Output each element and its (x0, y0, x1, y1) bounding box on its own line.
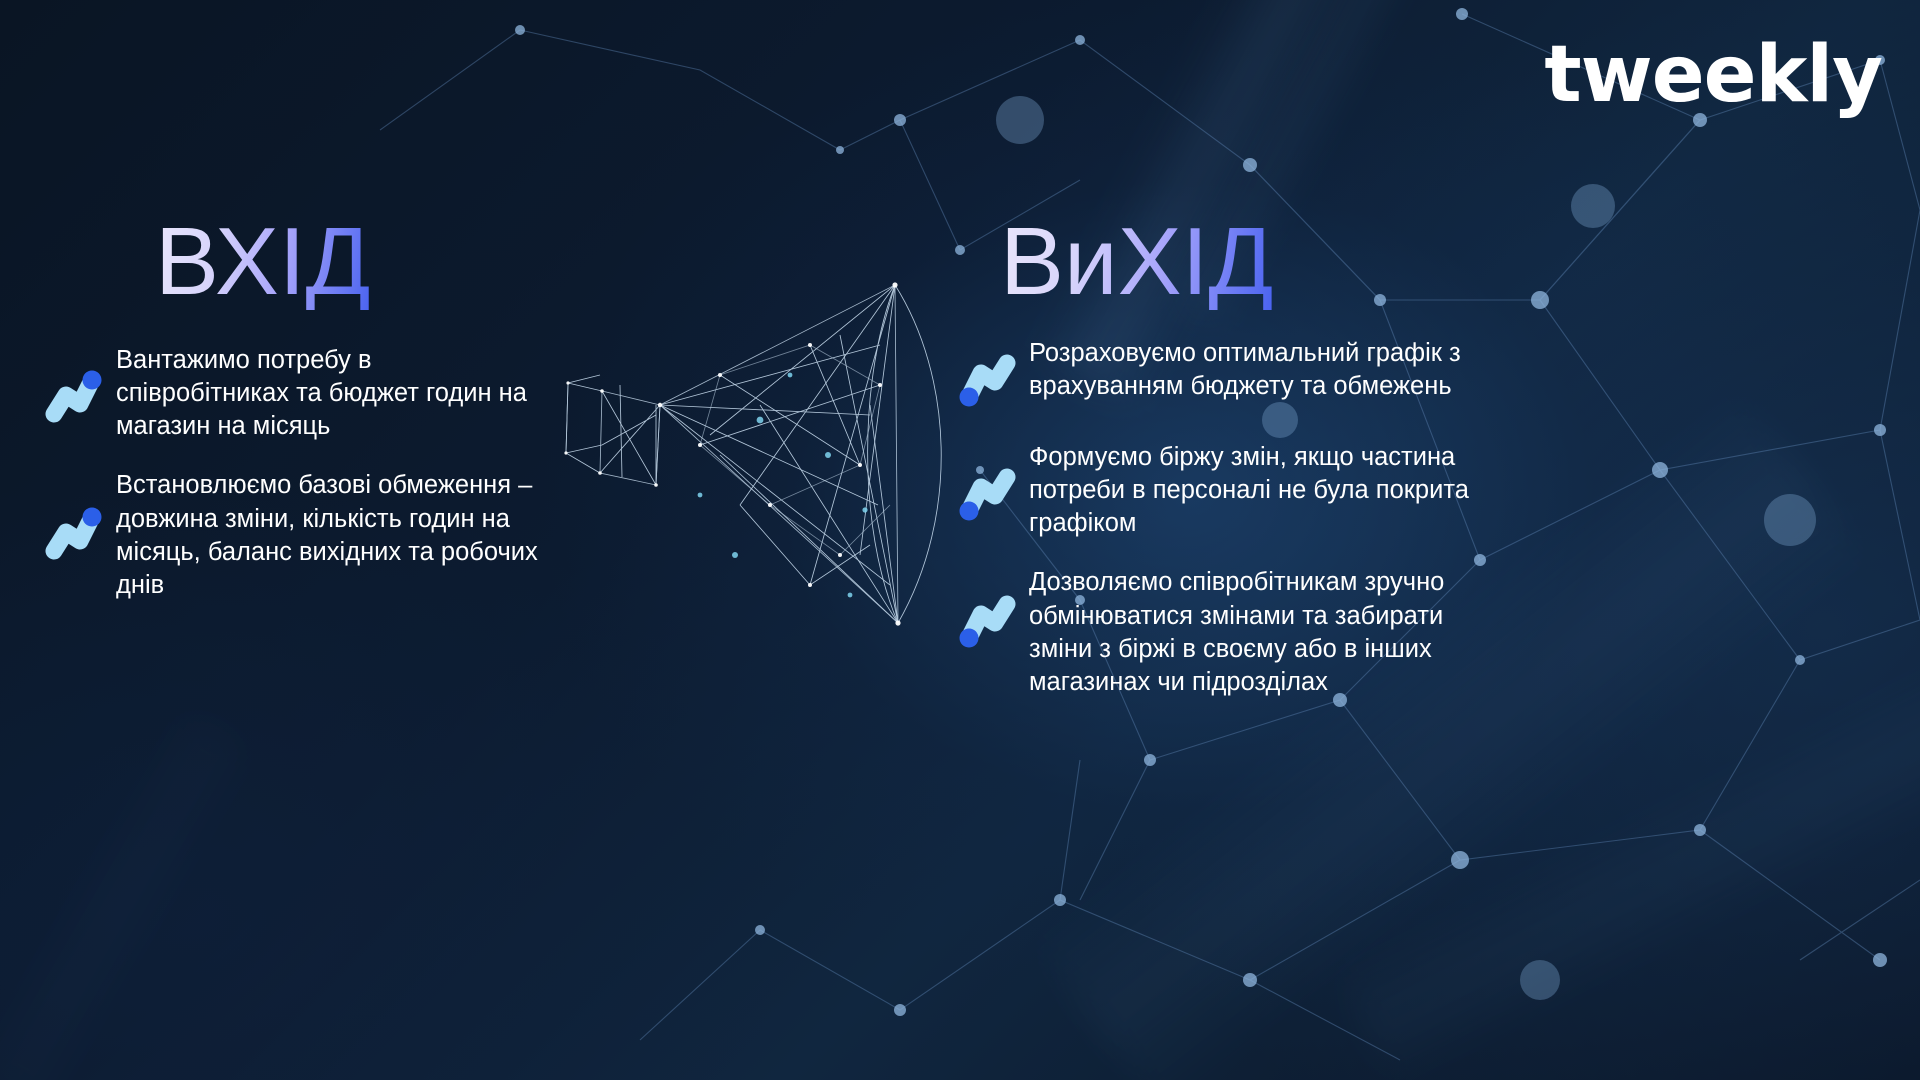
heading-input-wrap: ВХІД (40, 214, 371, 310)
list-item: Встановлюємо базові обмеження – довжина … (40, 465, 600, 602)
bullet-list-output: Розраховуємо оптимальний графік з врахув… (955, 333, 1535, 721)
list-item: Вантажимо потребу в співробітниках та бю… (40, 340, 600, 443)
list-item: Розраховуємо оптимальний графік з врахув… (955, 333, 1535, 415)
heading-output-wrap: ВиХІД (955, 214, 1273, 310)
list-item-text: Вантажимо потребу в співробітниках та бю… (116, 340, 546, 443)
list-item-text: Встановлюємо базові обмеження – довжина … (116, 465, 546, 602)
list-item: Формуємо біржу змін, якщо частина потреб… (955, 437, 1535, 540)
heading-output: ВиХІД (1000, 214, 1273, 310)
list-item-text: Дозволяємо співробітникам зручно обмінюв… (1029, 562, 1499, 699)
list-item-text: Розраховуємо оптимальний графік з врахув… (1029, 333, 1499, 403)
zigzag-bullet-icon (955, 349, 1021, 415)
wireframe-funnel-graphic (560, 255, 980, 655)
list-item: Дозволяємо співробітникам зручно обмінюв… (955, 562, 1535, 699)
brand-logo: Tweekly (1544, 36, 1882, 114)
brand-logo-text: Tweekly (1544, 30, 1882, 120)
zigzag-bullet-icon (955, 590, 1021, 656)
list-item-text: Формуємо біржу змін, якщо частина потреб… (1029, 437, 1499, 540)
zigzag-bullet-icon (40, 499, 106, 565)
slide-root: Tweekly ВХІД Вантажимо потребу в співроб… (0, 0, 1920, 1080)
zigzag-bullet-icon (955, 463, 1021, 529)
zigzag-bullet-icon (40, 362, 106, 428)
bullet-list-input: Вантажимо потребу в співробітниках та бю… (40, 340, 600, 624)
heading-input: ВХІД (155, 214, 371, 310)
